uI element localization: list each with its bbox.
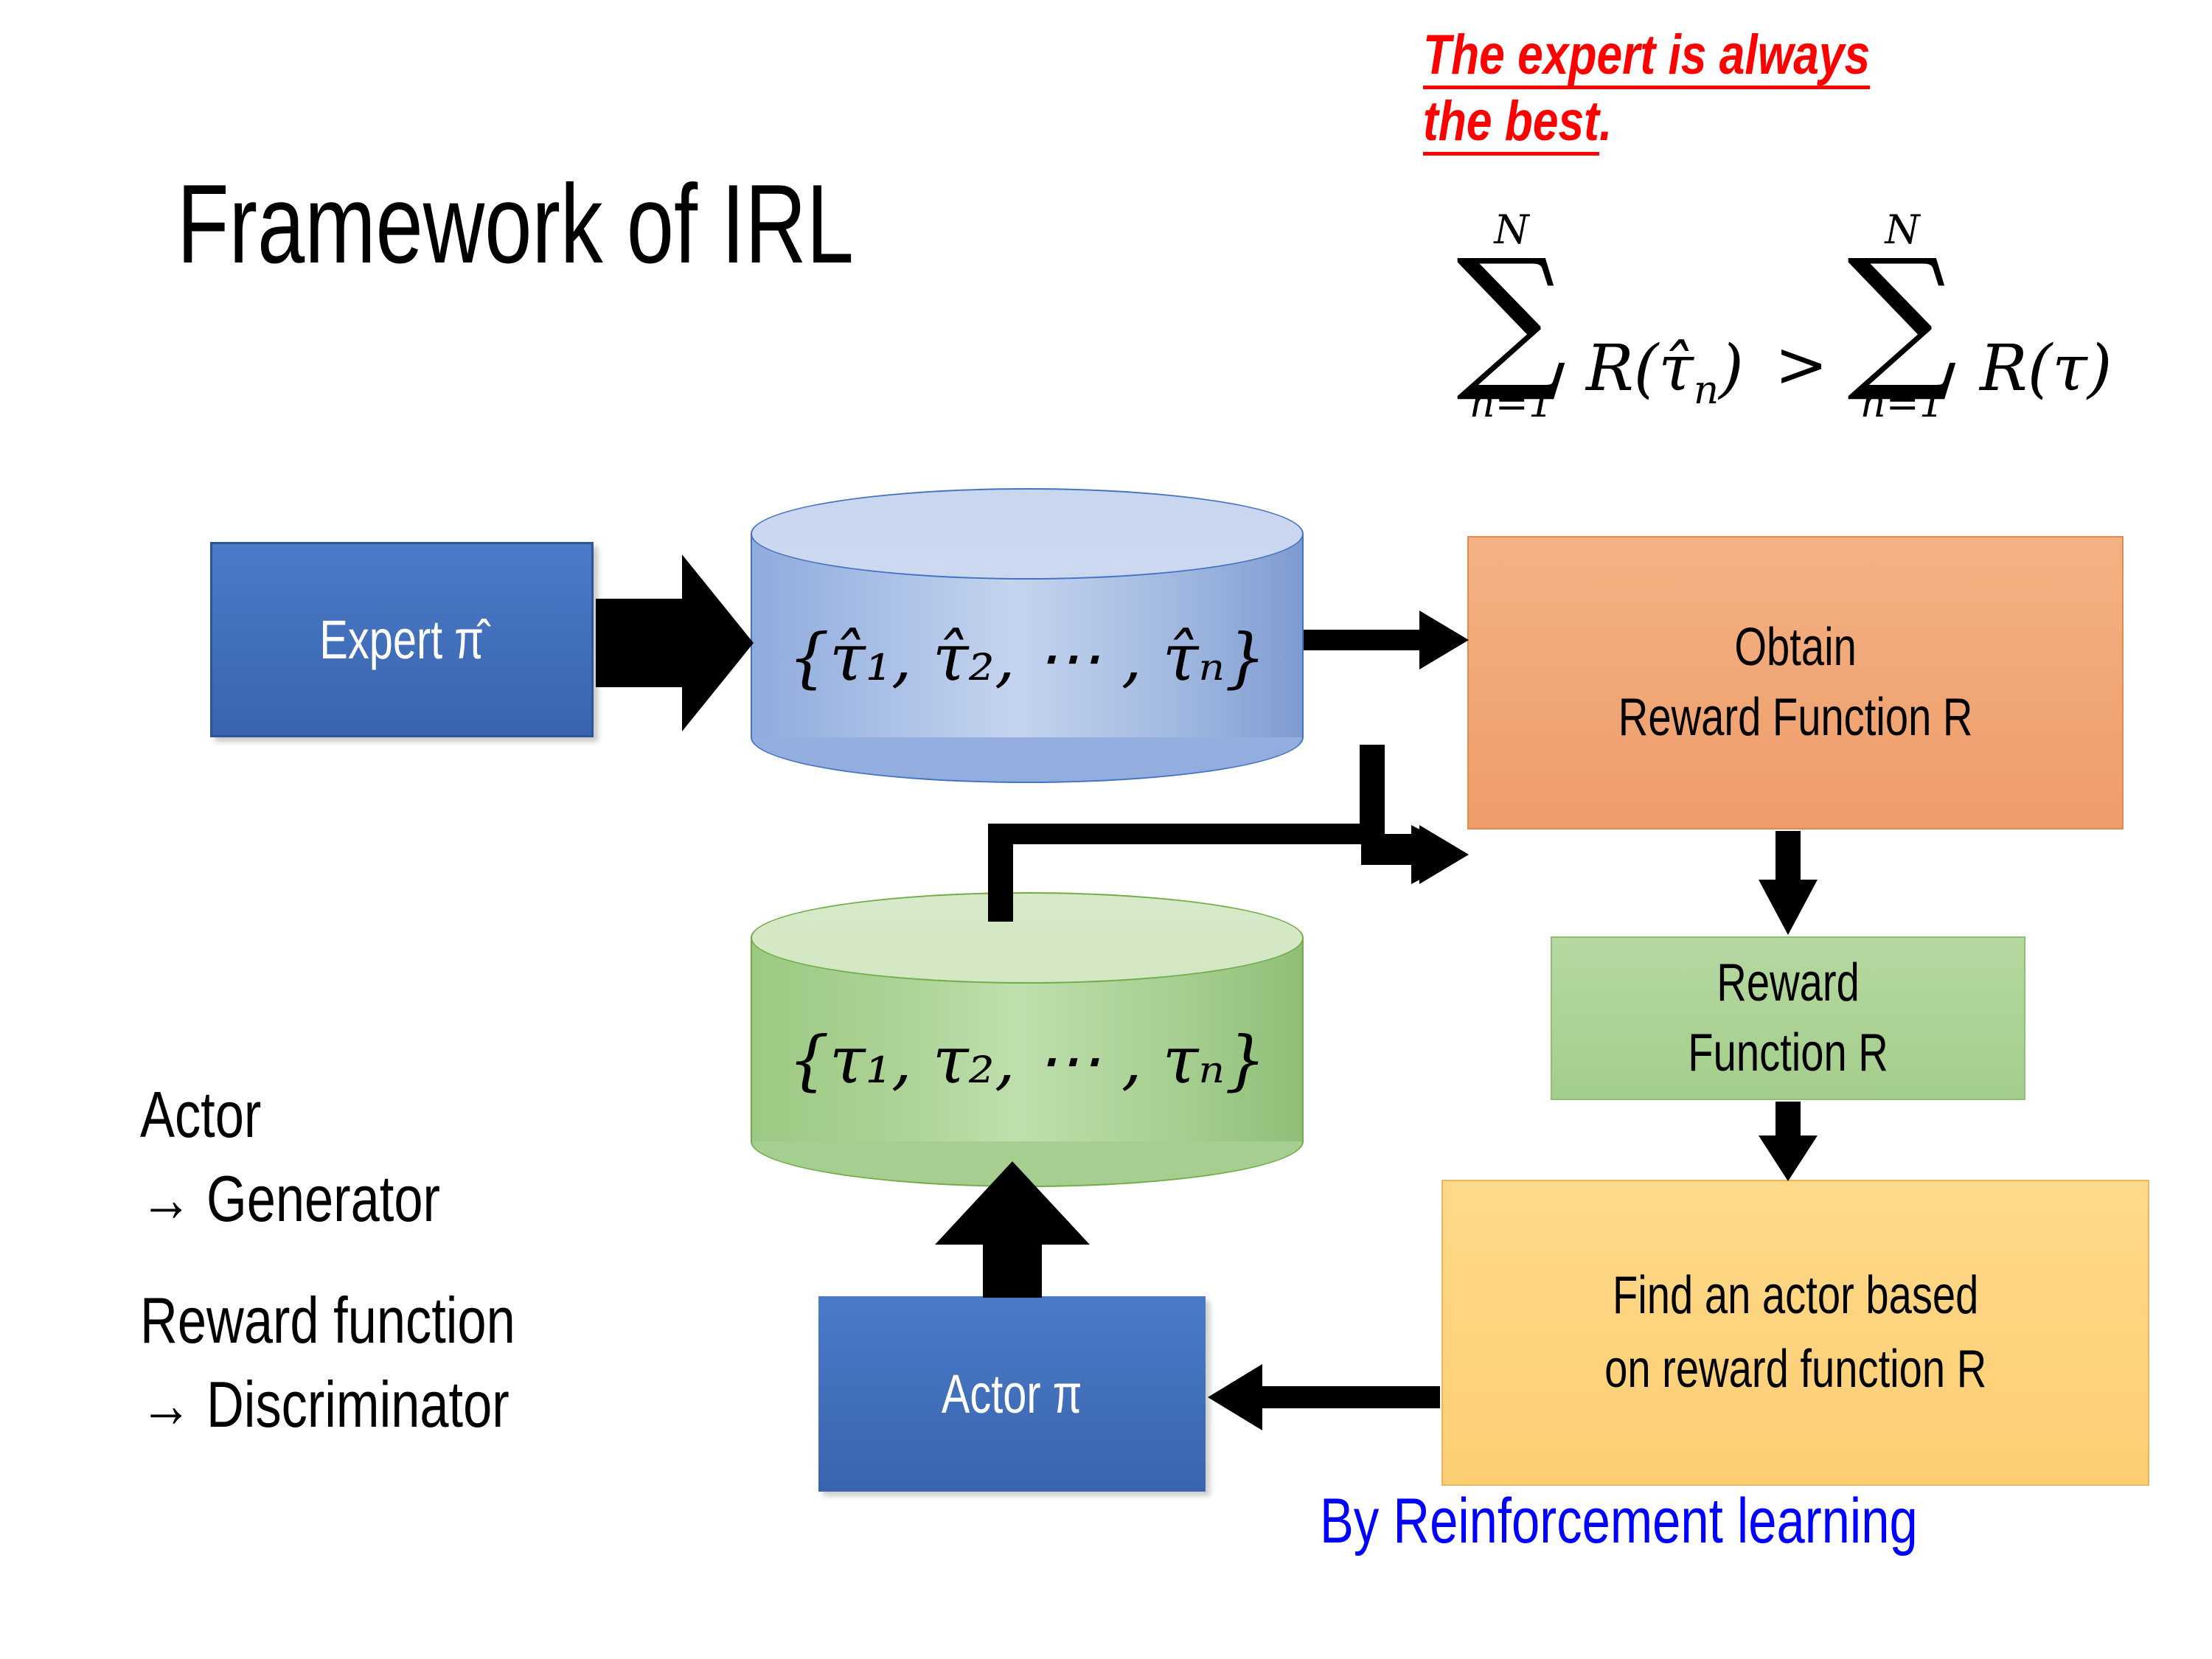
find-line-2: on reward function R bbox=[1604, 1333, 1986, 1406]
formula-term-left: R(τ̂n) bbox=[1586, 332, 1744, 413]
arrow-expert-to-trajectories bbox=[596, 554, 754, 731]
expert-trajectory-cylinder[interactable]: {τ̂₁, τ̂₂, ⋯ , τ̂ₙ} bbox=[751, 488, 1304, 783]
formula-term-left-head: R(τ̂ bbox=[1586, 332, 1694, 406]
arrow-trajectories-to-obtain bbox=[1304, 611, 1469, 669]
expert-policy-box[interactable]: Expert π̂ bbox=[210, 542, 594, 737]
obtain-line-2: Reward Function R bbox=[1618, 683, 1973, 753]
formula-relation: > bbox=[1775, 328, 1828, 402]
reward-function-box[interactable]: Reward Function R bbox=[1551, 936, 2025, 1100]
arrow-obtain-to-reward bbox=[1759, 831, 1818, 935]
actor-trajectory-cylinder[interactable]: {τ₁, τ₂, ⋯ , τₙ} bbox=[751, 892, 1304, 1187]
sum-left-sigma-icon: ∑ bbox=[1441, 250, 1582, 383]
note-line-3: Reward function bbox=[140, 1284, 515, 1357]
cylinder-top-cap bbox=[751, 488, 1304, 580]
arrow-reward-to-find bbox=[1759, 1102, 1818, 1181]
actor-reward-mapping-note: Actor → Generator Reward function → Disc… bbox=[140, 1073, 515, 1447]
expert-trajectory-label: {τ̂₁, τ̂₂, ⋯ , τ̂ₙ} bbox=[751, 619, 1304, 695]
formula-term-left-sub: n bbox=[1694, 367, 1719, 413]
actor-policy-box[interactable]: Actor π bbox=[818, 1296, 1206, 1492]
find-actor-box[interactable]: Find an actor based on reward function R bbox=[1441, 1180, 2149, 1486]
obtain-line-1: Obtain bbox=[1734, 613, 1856, 683]
reward-line-1: Reward bbox=[1717, 948, 1860, 1018]
find-line-1: Find an actor based bbox=[1613, 1259, 1978, 1332]
reinforcement-learning-caption: By Reinforcement learning bbox=[1320, 1489, 1918, 1553]
summation-right: N ∑ n=1 bbox=[1832, 210, 1972, 423]
callout-line-2: the best bbox=[1423, 90, 1599, 153]
slide-canvas: Framework of IRL The expert is always th… bbox=[0, 0, 2212, 1659]
summation-left: N ∑ n=1 bbox=[1441, 210, 1582, 423]
cylinder-top-cap bbox=[751, 892, 1304, 984]
reward-line-2: Function R bbox=[1688, 1018, 1888, 1088]
note-spacer bbox=[140, 1242, 515, 1279]
callout-line-2-period: . bbox=[1599, 90, 1612, 153]
page-title: Framework of IRL bbox=[177, 168, 854, 280]
formula-term-right: R(τ) bbox=[1980, 332, 2112, 406]
note-line-2: → Generator bbox=[140, 1162, 440, 1235]
arrow-find-to-actor bbox=[1208, 1364, 1440, 1430]
expert-policy-label: Expert π̂ bbox=[320, 608, 484, 671]
actor-policy-label: Actor π bbox=[942, 1363, 1082, 1425]
callout-line-1: The expert is always bbox=[1423, 24, 1870, 86]
callout-expert-is-best: The expert is always the best. bbox=[1423, 22, 2003, 154]
note-line-1: Actor bbox=[140, 1078, 261, 1151]
obtain-reward-function-box[interactable]: Obtain Reward Function R bbox=[1467, 536, 2124, 829]
sum-right-sigma-icon: ∑ bbox=[1832, 250, 1972, 383]
inequality-formula: N ∑ n=1 R(τ̂n) > N ∑ n=1 R(τ) bbox=[1441, 210, 2186, 505]
formula-term-left-close: ) bbox=[1719, 332, 1744, 406]
note-line-4: → Discriminator bbox=[140, 1368, 509, 1441]
actor-trajectory-label: {τ₁, τ₂, ⋯ , τₙ} bbox=[751, 1022, 1304, 1098]
